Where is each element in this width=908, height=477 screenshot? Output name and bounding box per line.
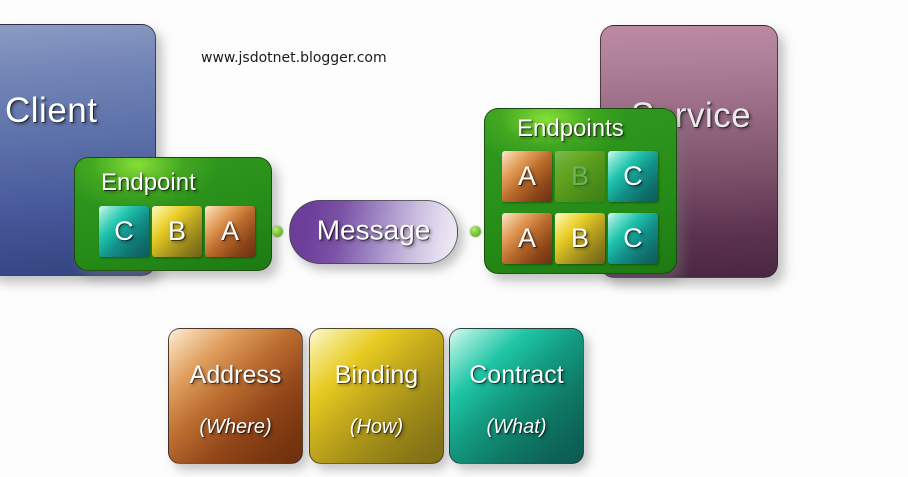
endpoint-tile-label: C bbox=[99, 215, 149, 246]
endpoint-tile-label: C bbox=[608, 160, 658, 191]
watermark-text: www.jsdotnet.blogger.com bbox=[201, 50, 387, 66]
service-endpoint-tiles-row-2: ABC bbox=[502, 213, 658, 264]
connector-dot-right bbox=[470, 226, 481, 237]
endpoint-tile-label: C bbox=[608, 222, 658, 253]
message-label: Message bbox=[290, 215, 457, 247]
message-pill: Message bbox=[289, 200, 458, 264]
endpoint-tile-contract: C bbox=[99, 206, 149, 257]
legend-address-title: Address bbox=[169, 361, 302, 390]
endpoint-tile-binding: B bbox=[152, 206, 202, 257]
endpoint-tile-label: A bbox=[502, 222, 552, 253]
endpoint-tile-binding: B bbox=[555, 213, 605, 264]
legend-address-subtitle: (Where) bbox=[169, 416, 302, 439]
endpoint-tile-address: A bbox=[502, 213, 552, 264]
legend-address-box: Address (Where) bbox=[168, 328, 303, 464]
connector-dot-left bbox=[272, 226, 283, 237]
wcf-architecture-diagram: Client Service Endpoint CBA Endpoints AB… bbox=[0, 0, 908, 477]
legend-contract-title: Contract bbox=[450, 361, 583, 390]
legend-binding-box: Binding (How) bbox=[309, 328, 444, 464]
endpoint-tile-contract: C bbox=[608, 151, 658, 202]
client-label: Client bbox=[5, 91, 97, 131]
service-endpoints-label: Endpoints bbox=[517, 115, 624, 143]
service-endpoint-tiles-row-1: ABC bbox=[502, 151, 658, 202]
endpoint-tile-label: A bbox=[205, 215, 255, 246]
endpoint-tile-label: B bbox=[152, 215, 202, 246]
endpoint-tile-label: B bbox=[555, 222, 605, 253]
endpoint-tile-address: A bbox=[502, 151, 552, 202]
client-endpoint-box: Endpoint CBA bbox=[74, 157, 272, 271]
endpoint-tile-contract: C bbox=[608, 213, 658, 264]
endpoint-tile-binding: B bbox=[555, 151, 605, 202]
legend-binding-title: Binding bbox=[310, 361, 443, 390]
client-endpoint-tiles: CBA bbox=[99, 206, 255, 257]
service-endpoints-box: Endpoints ABC ABC bbox=[484, 108, 677, 274]
endpoint-tile-label: A bbox=[502, 160, 552, 191]
legend-contract-box: Contract (What) bbox=[449, 328, 584, 464]
endpoint-tile-address: A bbox=[205, 206, 255, 257]
endpoint-tile-label: B bbox=[555, 160, 605, 191]
legend-binding-subtitle: (How) bbox=[310, 416, 443, 439]
client-endpoint-label: Endpoint bbox=[101, 169, 196, 197]
legend-contract-subtitle: (What) bbox=[450, 416, 583, 439]
